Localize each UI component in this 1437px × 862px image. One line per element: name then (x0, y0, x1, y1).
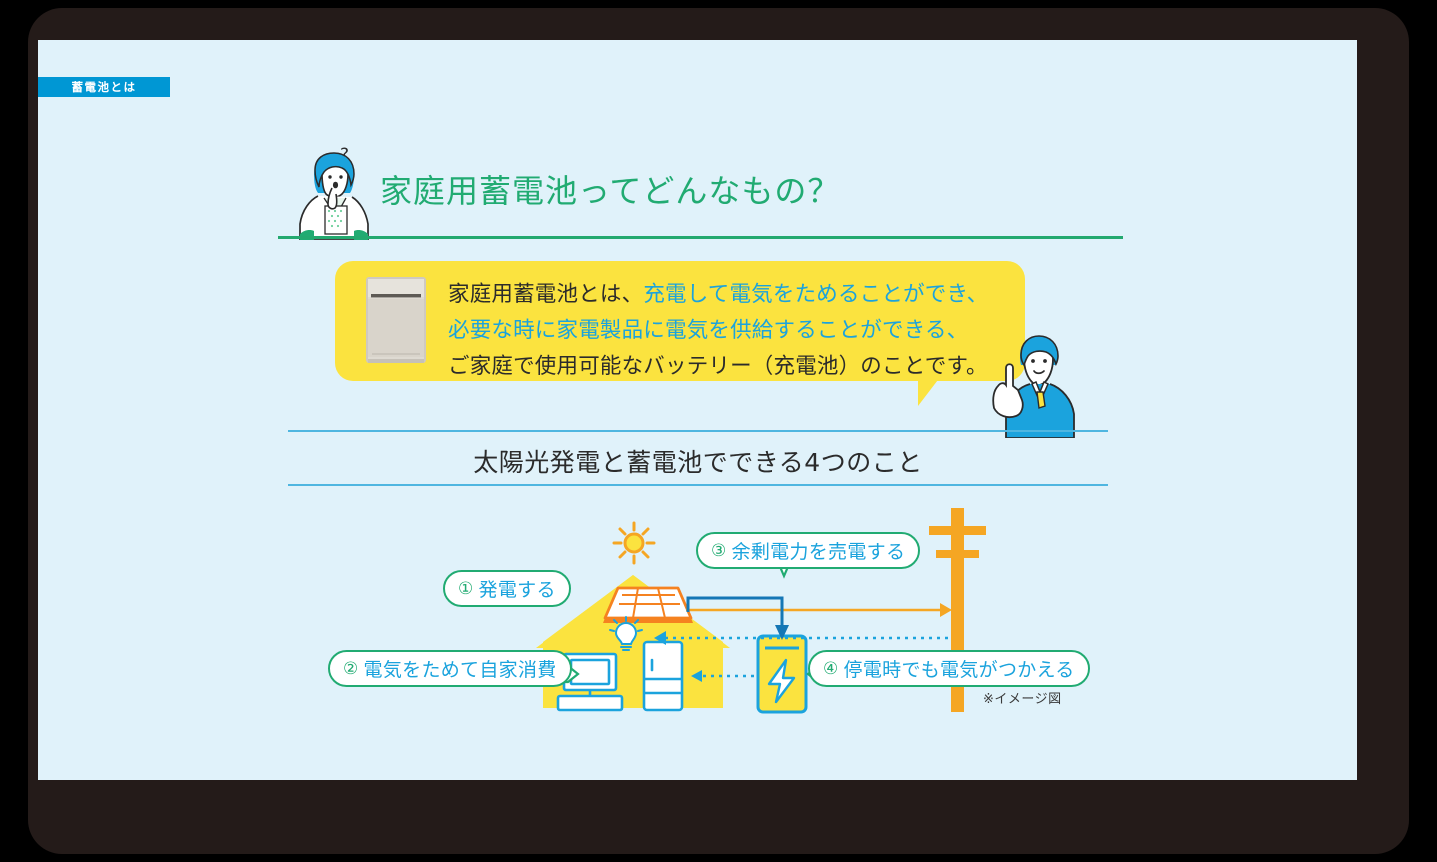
energy-flow-diagram: ① 発電する ② 電気をためて自家消費 ③ 余剰電力を売電する ④ 停電時でも電… (288, 490, 1138, 720)
thinking-woman-icon: ? (288, 144, 380, 240)
callout-line-1-blue: 充電して電気をためることができ、 (643, 282, 988, 307)
callout-line-1-dark: 家庭用蓄電池とは、 (448, 282, 643, 307)
home-battery-unit-icon (363, 275, 429, 365)
sell-power-arrow (686, 603, 952, 617)
diagram-label-2-text: 電気をためて自家消費 (364, 655, 557, 682)
refrigerator-icon (644, 642, 682, 710)
solar-panel-icon (603, 588, 693, 623)
callout-line-2-blue: 必要な時に家電製品に電気を供給することができる、 (448, 318, 968, 343)
page-title: 家庭用蓄電池ってどんなもの？ (380, 166, 840, 212)
sun-icon (614, 523, 654, 563)
diagram-label-4-text: 停電時でも電気がつかえる (844, 655, 1075, 682)
page-title-block: ? 家庭用蓄電池ってどんなもの？ (278, 144, 1123, 240)
diagram-label-2[interactable]: ② 電気をためて自家消費 (328, 650, 572, 687)
diagram-label-1[interactable]: ① 発電する (443, 570, 571, 607)
pointing-man-icon (988, 328, 1080, 438)
image-disclaimer-note: ※イメージ図 (983, 688, 1062, 707)
callout-line-3: ご家庭で使用可能なバッテリー（充電池）のことです。 (448, 349, 988, 380)
device-frame: 蓄電池とは ? (0, 0, 1437, 862)
diagram-label-1-text: 発電する (479, 575, 556, 602)
title-underline (278, 236, 1123, 239)
callout-line-1: 家庭用蓄電池とは、充電して電気をためることができ、 (448, 277, 988, 308)
section-tag: 蓄電池とは (38, 77, 170, 97)
diagram-label-3[interactable]: ③ 余剰電力を売電する (696, 532, 920, 569)
diagram-label-3-text: 余剰電力を売電する (732, 537, 906, 564)
slide-canvas: 蓄電池とは ? (38, 40, 1357, 780)
section-rule-top (288, 430, 1108, 432)
diagram-label-1-number: ① (458, 579, 474, 599)
section-heading-block: 太陽光発電と蓄電池でできる4つのこと (288, 430, 1108, 486)
battery-storage-icon (758, 636, 806, 712)
diagram-label-2-number: ② (343, 659, 359, 679)
callout-line-2: 必要な時に家電製品に電気を供給することができる、 (448, 313, 968, 344)
section-rule-bottom (288, 484, 1108, 486)
diagram-label-4-number: ④ (823, 659, 839, 679)
diagram-label-3-number: ③ (711, 541, 727, 561)
diagram-label-4[interactable]: ④ 停電時でも電気がつかえる (808, 650, 1090, 687)
callout-line-3-dark: ご家庭で使用可能なバッテリー（充電池）のことです。 (448, 354, 988, 379)
section-tag-label: 蓄電池とは (72, 79, 137, 95)
section-heading: 太陽光発電と蓄電池でできる4つのこと (288, 443, 1108, 479)
